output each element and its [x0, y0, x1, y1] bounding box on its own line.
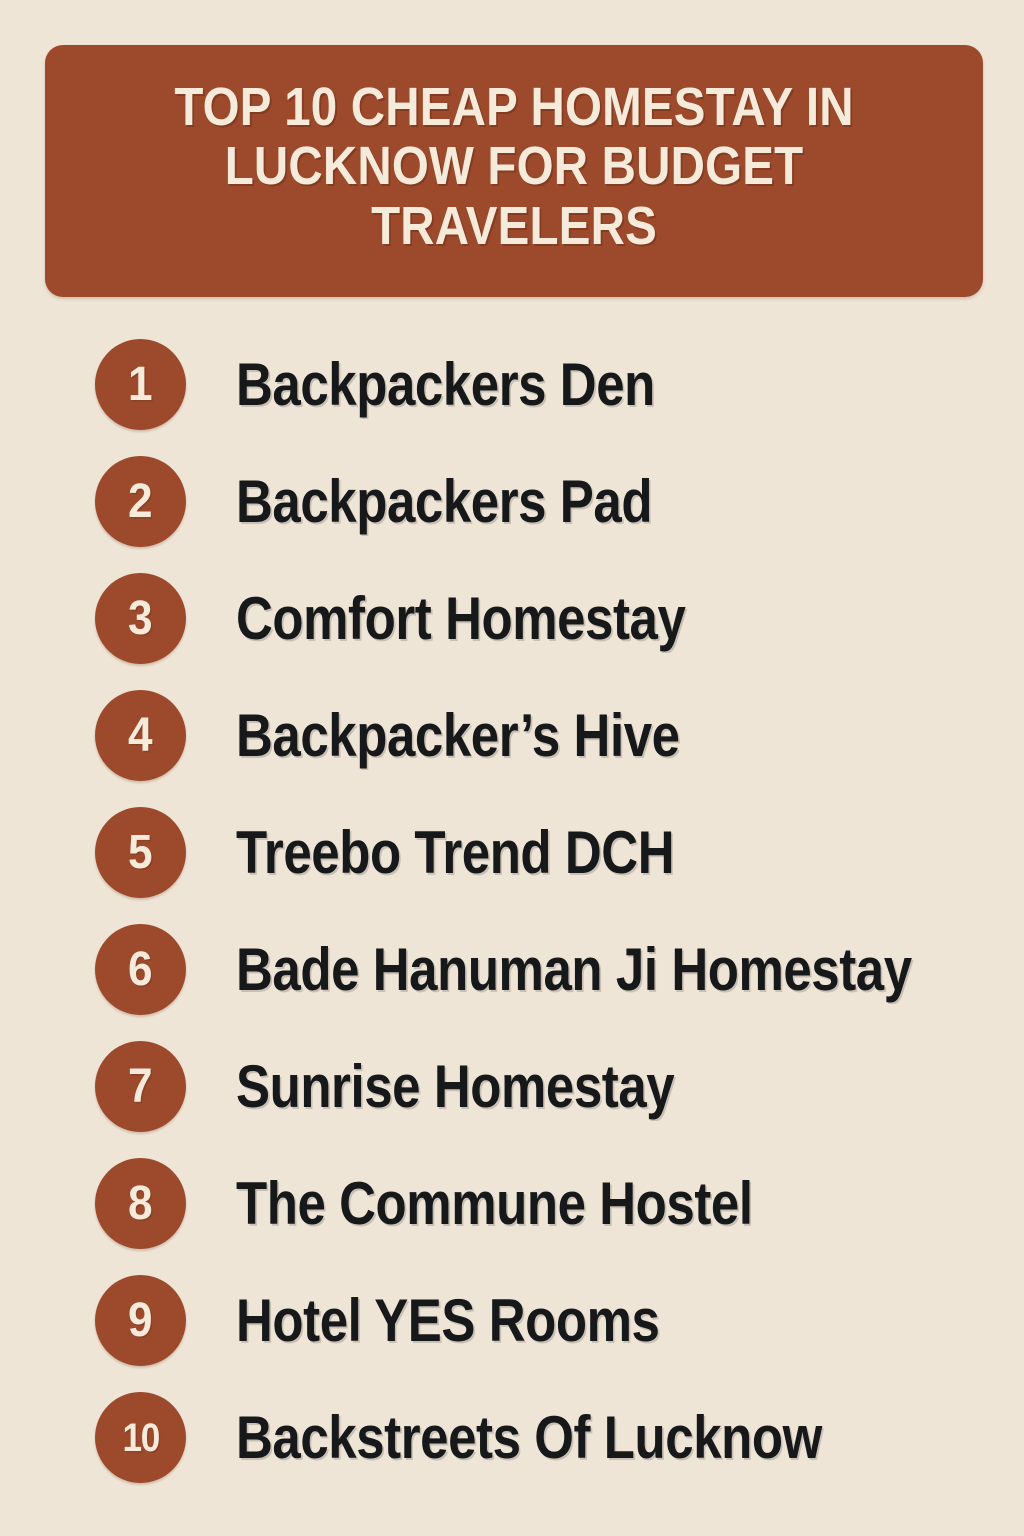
list-item[interactable]: 2Backpackers Pad [0, 451, 1024, 568]
homestay-name: Backstreets Of Lucknow [236, 1387, 822, 1488]
rank-number: 8 [128, 1180, 152, 1228]
rank-badge: 8 [95, 1158, 186, 1249]
list-item[interactable]: 1Backpackers Den [0, 334, 1024, 451]
list-item[interactable]: 9Hotel YES Rooms [0, 1270, 1024, 1387]
rank-badge: 7 [95, 1041, 186, 1132]
title-banner: TOP 10 CHEAP HOMESTAY IN LUCKNOW FOR BUD… [45, 45, 983, 297]
rank-badge: 3 [95, 573, 186, 664]
rank-number: 9 [128, 1297, 152, 1345]
homestay-name: Backpackers Pad [236, 451, 652, 552]
homestay-name: Hotel YES Rooms [236, 1270, 659, 1371]
homestay-name: Backpackers Den [236, 334, 655, 435]
rank-badge: 2 [95, 456, 186, 547]
list-item[interactable]: 3Comfort Homestay [0, 568, 1024, 685]
homestay-name: Bade Hanuman Ji Homestay [236, 919, 912, 1020]
list-item[interactable]: 4Backpacker’s Hive [0, 685, 1024, 802]
rank-number: 2 [128, 478, 152, 526]
rank-number: 7 [128, 1063, 152, 1111]
rank-badge: 10 [95, 1392, 186, 1483]
rank-number: 1 [128, 361, 152, 409]
poster-canvas: TOP 10 CHEAP HOMESTAY IN LUCKNOW FOR BUD… [0, 0, 1024, 1536]
rank-number: 4 [128, 712, 152, 760]
list-item[interactable]: 8The Commune Hostel [0, 1153, 1024, 1270]
rank-badge: 1 [95, 339, 186, 430]
rank-number: 6 [128, 946, 152, 994]
rank-badge: 9 [95, 1275, 186, 1366]
homestay-name: The Commune Hostel [236, 1153, 753, 1254]
list-item[interactable]: 10Backstreets Of Lucknow [0, 1387, 1024, 1504]
rank-number: 3 [128, 595, 152, 643]
homestay-name: Backpacker’s Hive [236, 685, 680, 786]
rank-number: 10 [122, 1418, 159, 1458]
homestay-name: Treebo Trend DCH [236, 802, 674, 903]
list-item[interactable]: 7Sunrise Homestay [0, 1036, 1024, 1153]
rank-badge: 4 [95, 690, 186, 781]
rank-badge: 5 [95, 807, 186, 898]
rank-number: 5 [128, 829, 152, 877]
homestay-name: Comfort Homestay [236, 568, 685, 669]
ranked-homestay-list: 1Backpackers Den2Backpackers Pad3Comfort… [0, 334, 1024, 1504]
page-title: TOP 10 CHEAP HOMESTAY IN LUCKNOW FOR BUD… [174, 78, 853, 256]
rank-badge: 6 [95, 924, 186, 1015]
list-item[interactable]: 6Bade Hanuman Ji Homestay [0, 919, 1024, 1036]
homestay-name: Sunrise Homestay [236, 1036, 674, 1137]
list-item[interactable]: 5Treebo Trend DCH [0, 802, 1024, 919]
